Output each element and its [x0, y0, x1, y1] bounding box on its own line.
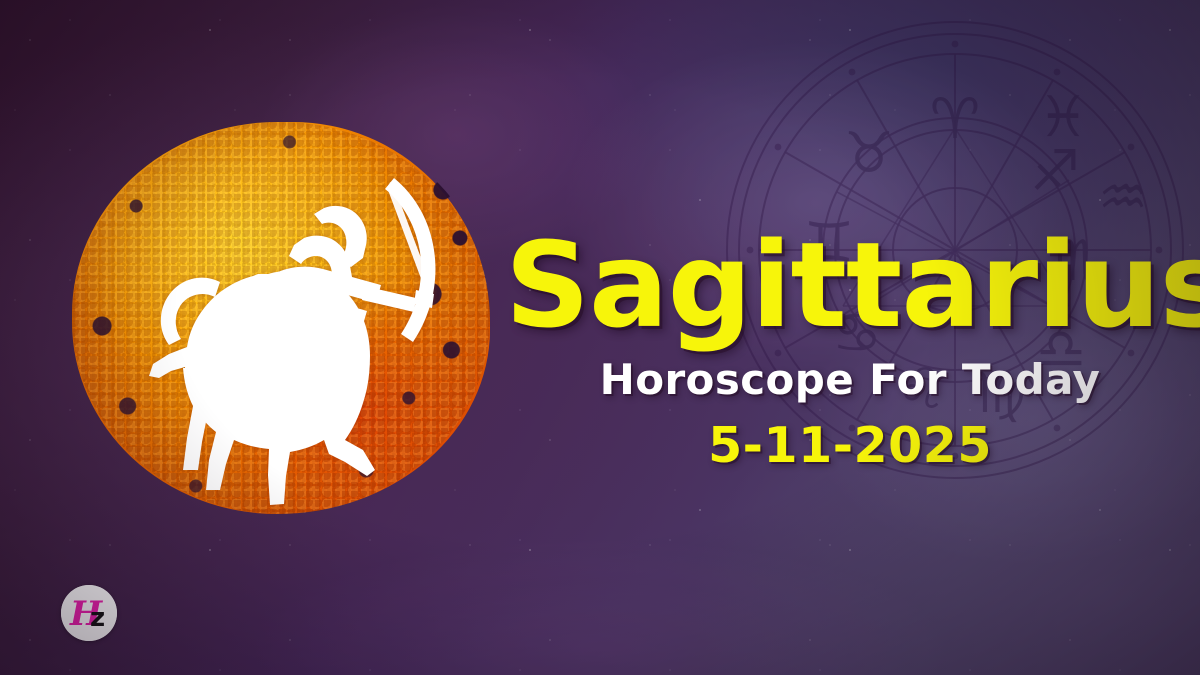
horoscope-banner: ♈ ♉ ♊ ♋ ♌ ♍ ♎ ♏ ♐ ♒ ♓ [0, 0, 1200, 675]
vignette-overlay [0, 0, 1200, 675]
